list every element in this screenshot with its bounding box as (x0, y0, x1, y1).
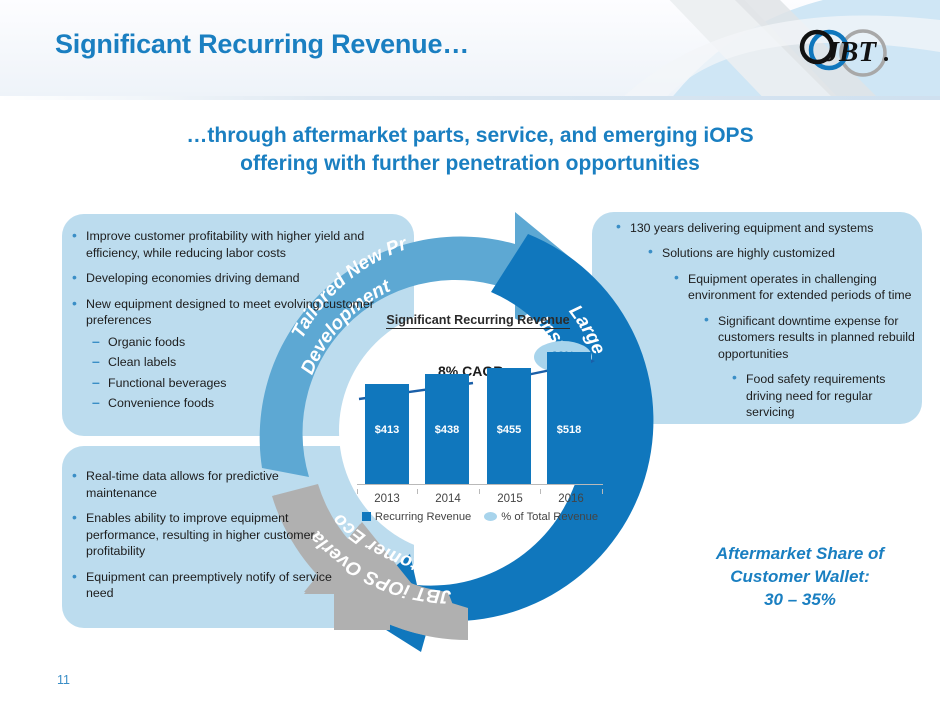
sub-list-item-text: Functional beverages (108, 376, 226, 390)
x-axis-line (357, 484, 603, 485)
list-item: • Enables ability to improve equipment p… (86, 510, 346, 560)
bar-label-2013: $413 (365, 424, 409, 436)
list-item: • 130 years delivering equipment and sys… (630, 220, 912, 236)
list-item-text: New equipment designed to meet evolving … (86, 297, 374, 328)
bottom-left-bullet-list: • Real-time data allows for predictive m… (86, 468, 346, 611)
legend-swatch-percent-of-total (484, 512, 497, 521)
sub-list-item: – Functional beverages (108, 375, 386, 392)
page-number: 11 (57, 673, 70, 687)
svg-text:JBT: JBT (824, 36, 878, 68)
callout-line-2: Customer Wallet: (690, 566, 910, 589)
bullet-icon: • (704, 312, 709, 327)
sub-list-item-text: Convenience foods (108, 396, 214, 410)
list-item: • Developing economies driving demand (86, 270, 386, 287)
bar-label-2014: $438 (425, 424, 469, 436)
sub-list-item: – Convenience foods (108, 395, 386, 412)
bullet-icon: • (72, 568, 77, 584)
list-item-text: Improve customer profitability with high… (86, 229, 364, 260)
bar-label-2015: $455 (487, 424, 531, 436)
callout-line-3: 30 – 35% (690, 589, 910, 612)
dash-icon: – (92, 352, 100, 371)
bullet-icon: • (674, 270, 679, 285)
list-item: • Solutions are highly customized (662, 245, 912, 261)
bar-2014: $438 (425, 374, 469, 484)
chart-legend: Recurring Revenue% of Total Revenue (355, 511, 605, 523)
list-item: • Improve customer profitability with hi… (86, 228, 386, 261)
x-tick-2016: 2016 (545, 493, 597, 505)
list-item-text: Developing economies driving demand (86, 271, 300, 285)
list-item-text: Equipment operates in challenging enviro… (688, 272, 912, 302)
dash-icon: – (92, 332, 100, 351)
list-item: • New equipment designed to meet evolvin… (86, 296, 386, 329)
chart-title-text: Significant Recurring Revenue (386, 313, 569, 329)
bullet-icon: • (72, 467, 77, 483)
bullet-icon: • (732, 370, 737, 385)
list-item-text: Solutions are highly customized (662, 246, 835, 260)
slide: Significant Recurring Revenue… JBT …thro… (0, 0, 940, 705)
list-item-text: Food safety requirements driving need fo… (746, 372, 885, 419)
bullet-icon: • (72, 269, 77, 285)
sub-list-item-text: Clean labels (108, 355, 176, 369)
list-item: • Equipment can preemptively notify of s… (86, 569, 346, 602)
bullet-icon: • (616, 219, 621, 234)
top-left-bullet-list: • Improve customer profitability with hi… (86, 228, 386, 416)
sub-list-item: – Clean labels (108, 354, 386, 371)
list-item-text: Significant downtime expense for custome… (718, 314, 915, 361)
list-item-text: Enables ability to improve equipment per… (86, 511, 315, 558)
bullet-icon: • (72, 509, 77, 525)
legend-label-percent-of-total: % of Total Revenue (501, 511, 598, 523)
bullet-icon: • (648, 244, 653, 259)
x-tick-2013: 2013 (361, 493, 413, 505)
right-bullet-list: • 130 years delivering equipment and sys… (612, 220, 912, 430)
list-item: • Food safety requirements driving need … (746, 371, 918, 420)
slide-subtitle: …through aftermarket parts, service, and… (70, 122, 870, 177)
bar-2015: $455 (487, 368, 531, 484)
callout-line-1: Aftermarket Share of (690, 543, 910, 566)
dash-icon: – (92, 393, 100, 412)
sub-list-item: – Organic foods (108, 334, 386, 351)
bullet-icon: • (72, 227, 77, 243)
aftermarket-share-callout: Aftermarket Share of Customer Wallet: 30… (690, 543, 910, 612)
sub-list-item-text: Organic foods (108, 335, 185, 349)
legend-swatch-recurring-revenue (362, 512, 371, 521)
bullet-icon: • (72, 295, 77, 311)
jbt-logo: JBT (793, 27, 908, 79)
chart-plot-area: $413 $438 $455 $518 (357, 341, 603, 484)
list-item-text: Equipment can preemptively notify of ser… (86, 570, 332, 601)
list-item: • Equipment operates in challenging envi… (688, 271, 916, 304)
x-axis-ticks: 2013 2014 2015 2016 (357, 489, 603, 505)
page-title: Significant Recurring Revenue… (55, 29, 469, 60)
dash-icon: – (92, 373, 100, 392)
list-item-text: Real-time data allows for predictive mai… (86, 469, 279, 500)
list-item-text: 130 years delivering equipment and syste… (630, 221, 873, 235)
bar-label-2016: $518 (547, 424, 591, 436)
list-item: • Significant downtime expense for custo… (718, 313, 918, 362)
x-tick-2014: 2014 (422, 493, 474, 505)
subtitle-line-2: offering with further penetration opport… (70, 150, 870, 178)
subtitle-line-1: …through aftermarket parts, service, and… (70, 122, 870, 150)
x-tick-2015: 2015 (484, 493, 536, 505)
legend-label-recurring-revenue: Recurring Revenue (375, 511, 471, 523)
list-item: • Real-time data allows for predictive m… (86, 468, 346, 501)
bar-2016: $518 (547, 352, 591, 484)
slide-header: Significant Recurring Revenue… JBT (0, 0, 940, 96)
header-divider (0, 96, 940, 100)
